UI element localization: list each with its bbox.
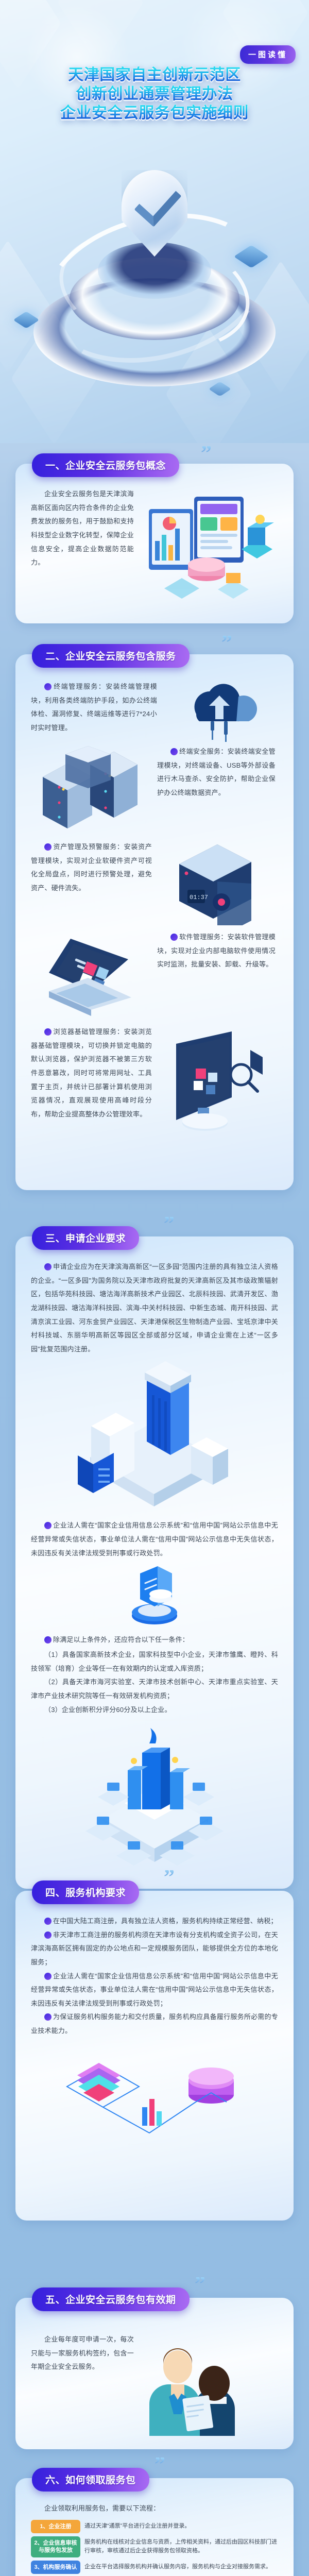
title-line-3: 企业安全云服务包实施细则 — [0, 104, 309, 123]
steps-list: 1、企业注册 通过天津“通票”平台进行企业注册并登录。 2、企业信息审核与服务包… — [31, 2520, 278, 2576]
section-concept: ” 一、企业安全云服务包概念 企业安全云服务包是天津滨海高新区面向区内符合条件的… — [0, 464, 309, 623]
enterprise-subitem-3: （3）企业创新积分评分60分及以上企业。 — [31, 1703, 278, 1717]
bullet-number: 3 — [44, 1636, 51, 1643]
agency-item-1: 1在中国大陆工商注册，具有独立法人资格，服务机构持续正常经营、纳税； — [31, 1914, 278, 1928]
validity-card: 五、企业安全云服务包有效期 企业每年度可申请一次，每次只能与一家服务机构签约，包… — [15, 2298, 294, 2449]
bullet-number: 1 — [44, 1263, 51, 1270]
data-flow-illustration — [31, 2045, 278, 2154]
safe-box-illustration: 01:37 — [157, 840, 273, 925]
laptop-illustration — [31, 930, 152, 1018]
agency-item-2: 2非天津市工商注册的服务机构须在天津市设有分支机构或全资子公司，在天津滨海高新区… — [31, 1928, 278, 1970]
validity-paragraph: 企业每年度可申请一次，每次只能与一家服务机构签约，包含一年期企业安全云服务。 — [31, 2333, 134, 2374]
bullet-number: 3 — [44, 1973, 51, 1980]
bullet-number: 1 — [44, 683, 51, 690]
section-header-services: 二、企业安全云服务包含服务 — [32, 644, 190, 668]
step-tag: 3、机构服务确认 — [31, 2561, 80, 2574]
step-row[interactable]: 1、企业注册 通过天津“通票”平台进行企业注册并登录。 — [31, 2520, 278, 2533]
title-line-2: 创新创业通票管理办法 — [0, 85, 309, 104]
enterprise-item-3: 3除满足以上条件外，还应符合以下任一条件： — [31, 1633, 278, 1647]
city-buildings-illustration — [31, 1359, 278, 1514]
bullet-number: 2 — [44, 1931, 51, 1939]
section-header-concept: 一、企业安全云服务包概念 — [32, 453, 179, 477]
laptop-icon — [33, 930, 149, 1018]
enterprise-subitem-2: （2）具备天津市海河实验室、天津市技术创新中心、天津市重点实验室、天津市产业技术… — [31, 1675, 278, 1703]
data-dashboard-illustration — [139, 487, 278, 606]
section-header-validity: 五、企业安全云服务包有效期 — [32, 2287, 190, 2311]
step-tag: 1、企业注册 — [31, 2520, 80, 2533]
section-validity: ” 五、企业安全云服务包有效期 企业每年度可申请一次，每次只能与一家服务机构签约… — [0, 2298, 309, 2449]
step-text: 服务机构在线核对企业信息与资质，上传相关资料，通过后由园区科技部门进行审核，审核… — [84, 2536, 278, 2557]
cloud-upload-icon — [166, 680, 269, 742]
service-item-4: 4软件管理服务：安装软件管理模块，实现对企业内部电脑软件使用情况实时监测，批量安… — [157, 930, 276, 972]
bullet-number: 3 — [44, 843, 51, 851]
bullet-number: 4 — [44, 2013, 51, 2021]
section-services: ” 二、企业安全云服务包含服务 1终端管理服务：安装终端管理模块，利用各类终端防… — [0, 654, 309, 1190]
read-badge: 一图读懂 — [240, 45, 296, 64]
agency-item-3: 3企业法人需在“国家企业信用信息公示系统”和“信用中国”网站公示信息中无经营异常… — [31, 1970, 278, 2011]
how-to-get-intro: 企业领取利用服务包，需要以下流程： — [31, 2502, 278, 2516]
quote-mark-icon: ” — [164, 1870, 175, 1885]
analytics-isometric-icon — [141, 487, 277, 606]
quote-mark-icon: ” — [201, 446, 212, 461]
bullet-number: 1 — [44, 1918, 51, 1925]
service-item-5: 5浏览器基础管理服务：安装浏览器基础管理模块，可切换并锁定电脑的默认浏览器，保护… — [31, 1025, 152, 1121]
section-header-how-to-get: 六、如何领取服务包 — [32, 2468, 149, 2492]
two-people-icon — [144, 2333, 257, 2436]
agency-requirements-card: 四、服务机构要求 1在中国大陆工商注册，具有独立法人资格，服务机构持续正常经营、… — [15, 1891, 294, 2221]
quote-mark-icon: ” — [221, 636, 232, 651]
page-title: 天津国家自主创新示范区 创新创业通票管理办法 企业安全云服务包实施细则 — [0, 66, 309, 123]
server-rack-illustration — [31, 745, 152, 835]
enterprise-subitem-1: （1）具备国家高新技术企业，国家科技型中小企业，天津市雏鹰、瞪羚、科技领军（培育… — [31, 1648, 278, 1675]
bullet-number: 2 — [44, 1522, 51, 1529]
safe-box-icon: 01:37 — [164, 840, 267, 925]
monitor-illustration — [157, 1025, 273, 1136]
section-how-to-get: ” 六、如何领取服务包 企业领取利用服务包，需要以下流程： 1、企业注册 通过天… — [0, 2478, 309, 2576]
city-buildings-icon — [70, 1359, 239, 1514]
how-to-get-card: 六、如何领取服务包 企业领取利用服务包，需要以下流程： 1、企业注册 通过天津“… — [15, 2478, 294, 2576]
enterprise-item-2: 2企业法人需在“国家企业信用信息公示系统”和“信用中国”网站公示信息中无经营异常… — [31, 1519, 278, 1560]
growth-chart-illustration — [31, 1721, 278, 1875]
enterprise-item-1: 1申请企业应为在天津滨海高新区“一区多园”范围内注册的具有独立法人资格的企业。“… — [31, 1260, 278, 1356]
step-row[interactable]: 3、机构服务确认 企业在平台选择服务机构并确认服务内容，服务机构与企业对接服务需… — [31, 2561, 278, 2574]
section-header-agency: 四、服务机构要求 — [32, 1880, 139, 1904]
step-text: 企业在平台选择服务机构并确认服务内容，服务机构与企业对接服务需求。 — [84, 2561, 278, 2574]
quote-mark-icon: ” — [195, 2277, 205, 2292]
concept-paragraph: 企业安全云服务包是天津滨海高新区面向区内符合条件的企业免费发放的服务包，用于鼓励… — [31, 487, 134, 570]
bullet-number: 5 — [44, 1028, 51, 1036]
concept-card: 一、企业安全云服务包概念 企业安全云服务包是天津滨海高新区面向区内符合条件的企业… — [15, 464, 294, 623]
data-layers-icon — [46, 2045, 263, 2154]
step-text: 通过天津“通票”平台进行企业注册并登录。 — [84, 2520, 278, 2533]
document-shield-illustration — [31, 1562, 278, 1629]
step-tag: 2、企业信息审核与服务包发放 — [31, 2536, 80, 2557]
bullet-number: 2 — [170, 748, 178, 755]
infographic-page: 一图读懂 天津国家自主创新示范区 创新创业通票管理办法 企业安全云服务包实施细则… — [0, 0, 309, 2576]
quote-mark-icon: ” — [154, 2458, 165, 2472]
step-row[interactable]: 2、企业信息审核与服务包发放 服务机构在线核对企业信息与资质，上传相关资料，通过… — [31, 2536, 278, 2557]
monitor-icon — [164, 1025, 267, 1136]
enterprise-requirements-card: 三、申请企业要求 1申请企业应为在天津滨海高新区“一区多园”范围内注册的具有独立… — [15, 1236, 294, 1889]
service-item-3: 3资产管理及预警服务：安装资产管理模块，实现对企业软硬件资产可视化全局盘点，同时… — [31, 840, 152, 895]
section-enterprise-requirements: ” 三、申请企业要求 1申请企业应为在天津滨海高新区“一区多园”范围内注册的具有… — [0, 1236, 309, 1889]
service-item-1: 1终端管理服务：安装终端管理模块，利用各类终端防护手段，如办公终端体检、漏洞修复… — [31, 680, 157, 735]
services-card: 二、企业安全云服务包含服务 1终端管理服务：安装终端管理模块，利用各类终端防护手… — [15, 654, 294, 1190]
document-stack-icon — [113, 1562, 196, 1629]
quote-mark-icon: ” — [164, 1217, 175, 1232]
server-rack-icon — [33, 745, 149, 835]
agency-item-4: 4为保证服务机构服务能力和交付质量，服务机构应具备履行服务所必需的专业技术能力。 — [31, 2010, 278, 2038]
growth-bars-icon — [67, 1721, 242, 1875]
title-line-1: 天津国家自主创新示范区 — [0, 66, 309, 85]
section-agency-requirements: ” 四、服务机构要求 1在中国大陆工商注册，具有独立法人资格，服务机构持续正常经… — [0, 1891, 309, 2221]
cloud-upload-illustration — [162, 680, 273, 742]
bullet-number: 4 — [170, 934, 178, 941]
consultants-illustration — [139, 2333, 263, 2436]
section-header-enterprise: 三、申请企业要求 — [32, 1226, 139, 1250]
service-item-2: 2终端安全服务：安装终端安全管理模块，对终端设备、USB等外部设备进行木马查杀、… — [157, 745, 276, 800]
svg-text:01:37: 01:37 — [190, 894, 208, 901]
